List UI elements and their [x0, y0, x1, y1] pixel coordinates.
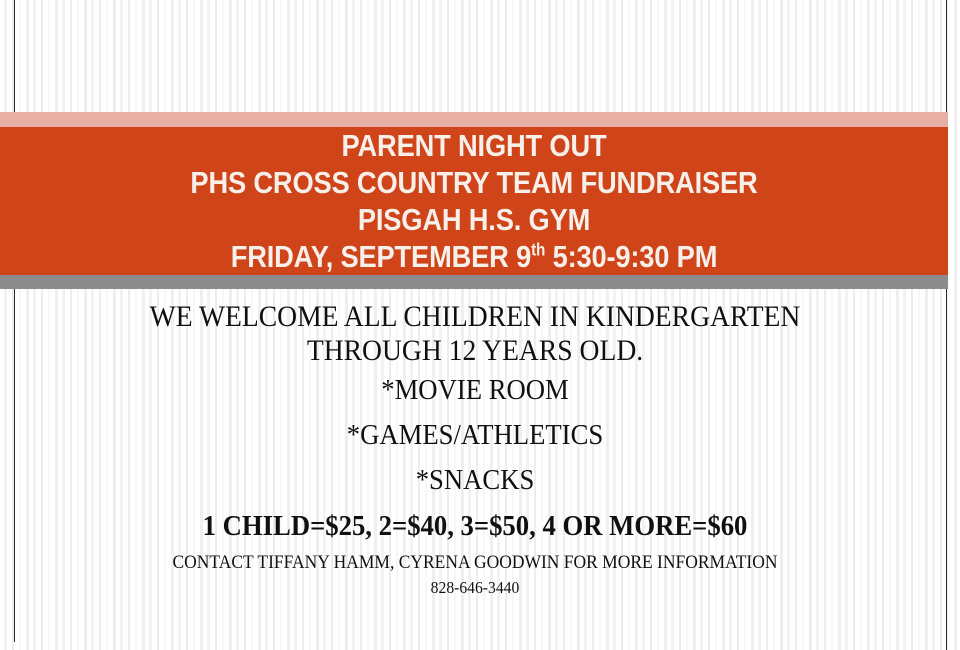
banner-accent-stripe — [0, 112, 948, 127]
date-text-before: FRIDAY, SEPTEMBER 9 — [231, 239, 531, 274]
slide-border-right — [946, 0, 947, 650]
title-line-date: FRIDAY, SEPTEMBER 9th 5:30-9:30 PM — [231, 238, 718, 275]
slide-body: WE WELCOME ALL CHILDREN IN KINDERGARTEN … — [30, 300, 920, 600]
body-bullet-movie-room: *MOVIE ROOM — [66, 368, 885, 413]
body-lead-line-1: WE WELCOME ALL CHILDREN IN KINDERGARTEN — [66, 300, 885, 334]
title-line-2: PHS CROSS COUNTRY TEAM FUNDRAISER — [190, 164, 757, 201]
slide-border-left — [14, 0, 15, 642]
date-text-after: 5:30-9:30 PM — [545, 239, 717, 274]
presentation-slide: PARENT NIGHT OUT PHS CROSS COUNTRY TEAM … — [0, 0, 960, 650]
banner-shadow-stripe — [0, 275, 948, 289]
slide-title: PARENT NIGHT OUT PHS CROSS COUNTRY TEAM … — [57, 127, 891, 275]
date-ordinal-suffix: th — [531, 240, 545, 260]
body-phone: 828-646-3440 — [66, 576, 885, 600]
body-contact: CONTACT TIFFANY HAMM, CYRENA GOODWIN FOR… — [66, 549, 885, 576]
body-pricing: 1 CHILD=$25, 2=$40, 3=$50, 4 OR MORE=$60 — [66, 503, 885, 549]
body-lead-line-2: THROUGH 12 YEARS OLD. — [66, 334, 885, 368]
title-line-1: PARENT NIGHT OUT — [342, 127, 607, 164]
body-bullet-games-athletics: *GAMES/ATHLETICS — [66, 413, 885, 458]
body-bullet-snacks: *SNACKS — [66, 458, 885, 503]
title-line-3: PISGAH H.S. GYM — [358, 201, 590, 238]
